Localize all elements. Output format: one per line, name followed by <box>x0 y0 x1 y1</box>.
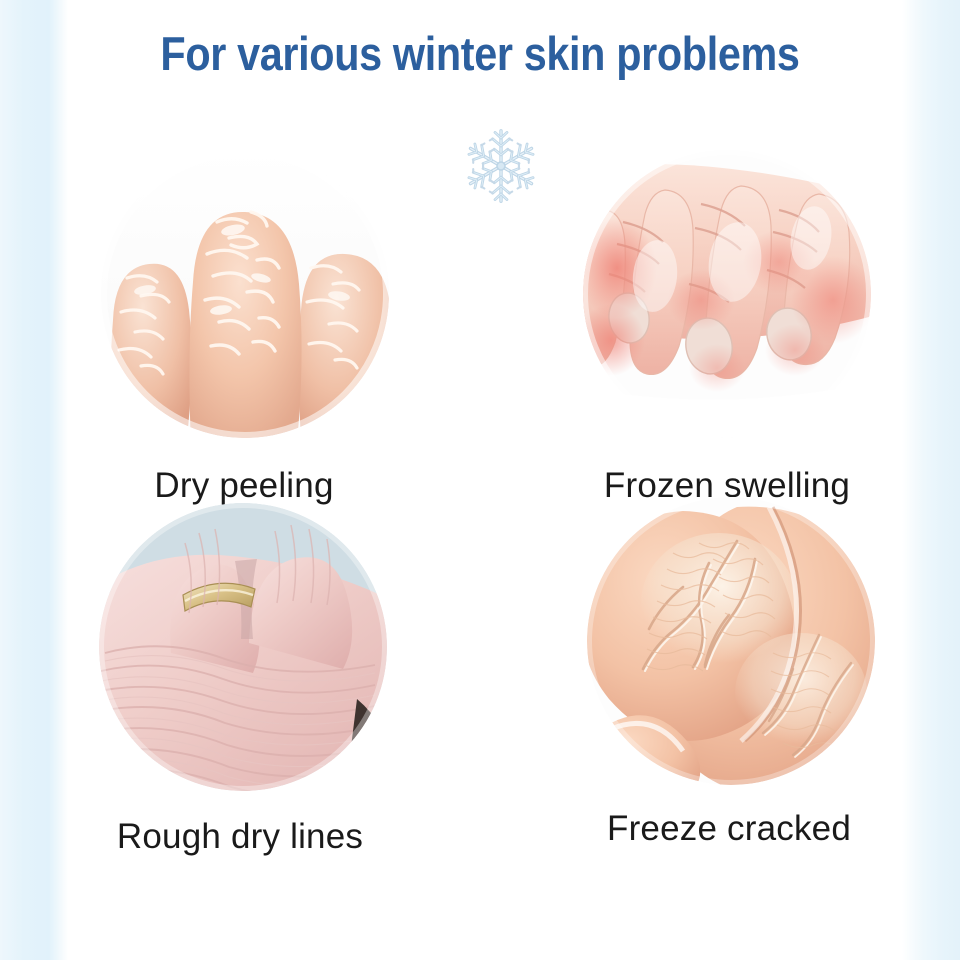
caption-rough-dry-lines: Rough dry lines <box>117 819 363 854</box>
caption-dry-peeling: Dry peeling <box>154 468 333 503</box>
card-rough-dry-lines: Rough dry lines <box>0 503 480 854</box>
photo-rough-dry-lines <box>99 503 387 791</box>
card-frozen-swelling: Frozen swelling <box>480 150 960 503</box>
photo-dry-peeling <box>101 150 389 438</box>
winter-skin-problems-poster: For various winter skin problems <box>0 0 960 960</box>
card-dry-peeling: Dry peeling <box>0 150 480 503</box>
card-freeze-cracked: Freeze cracked <box>480 503 960 854</box>
photo-frozen-swelling <box>583 150 871 438</box>
caption-freeze-cracked: Freeze cracked <box>607 811 851 846</box>
problem-grid: Dry peeling <box>0 150 960 854</box>
page-title: For various winter skin problems <box>58 26 903 81</box>
photo-freeze-cracked <box>587 497 875 785</box>
grid-row-2: Rough dry lines <box>0 503 960 854</box>
grid-row-1: Dry peeling <box>0 150 960 503</box>
